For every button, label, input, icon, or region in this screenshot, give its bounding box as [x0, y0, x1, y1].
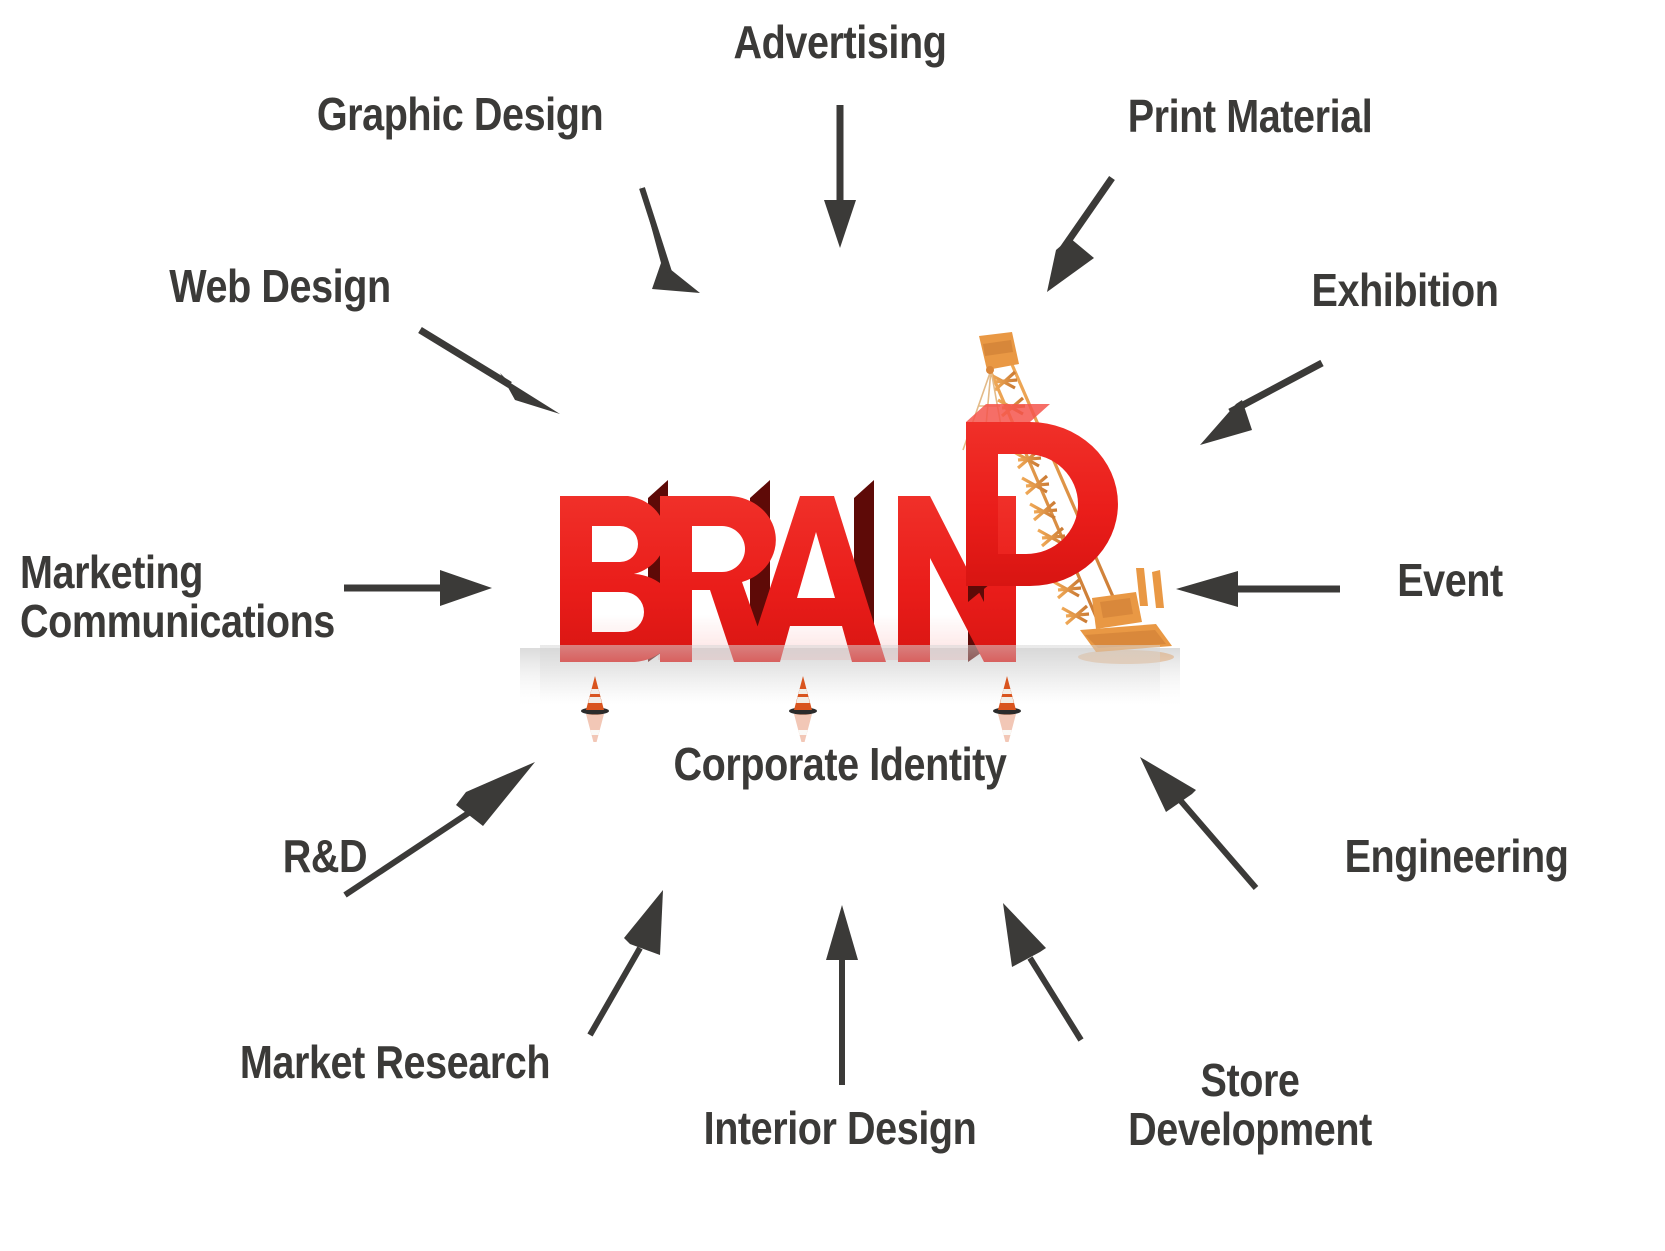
- spoke-label-market-research: Market Research: [184, 1038, 605, 1087]
- arrow-market-research: [590, 890, 663, 1035]
- spoke-label-marketing-communications: Marketing Communications: [20, 548, 424, 646]
- center-caption-corporate-identity: Corporate Identity: [608, 740, 1072, 789]
- spoke-label-r-and-d: R&D: [226, 832, 424, 881]
- arrow-engineering: [1140, 757, 1256, 888]
- spoke-label-interior-design: Interior Design: [651, 1104, 1029, 1153]
- spoke-label-print-material: Print Material: [1069, 92, 1430, 141]
- arrow-event: [1176, 571, 1340, 607]
- spoke-label-engineering: Engineering: [1345, 832, 1665, 881]
- arrow-store-development: [1003, 903, 1081, 1040]
- spoke-label-advertising: Advertising: [668, 18, 1012, 67]
- arrow-interior-design: [826, 905, 858, 1085]
- traffic-cone-icon: [788, 670, 818, 742]
- spoke-label-store-development: Store Development: [1087, 1056, 1414, 1154]
- spoke-label-web-design: Web Design: [134, 262, 426, 311]
- traffic-cone-icon: [580, 670, 610, 742]
- brand-diagram-canvas: Graphic Design Advertising Print Materia…: [0, 0, 1665, 1251]
- arrow-exhibition: [1200, 363, 1322, 445]
- arrow-advertising: [824, 105, 856, 248]
- spoke-label-graphic-design: Graphic Design: [279, 90, 640, 139]
- arrow-print-material: [1047, 178, 1112, 292]
- arrow-graphic-design: [640, 185, 700, 293]
- spoke-label-exhibition: Exhibition: [1242, 266, 1569, 315]
- spoke-label-event: Event: [1347, 556, 1553, 605]
- brand-letter-d-lifted: [966, 404, 1118, 602]
- traffic-cone-icon: [992, 670, 1022, 742]
